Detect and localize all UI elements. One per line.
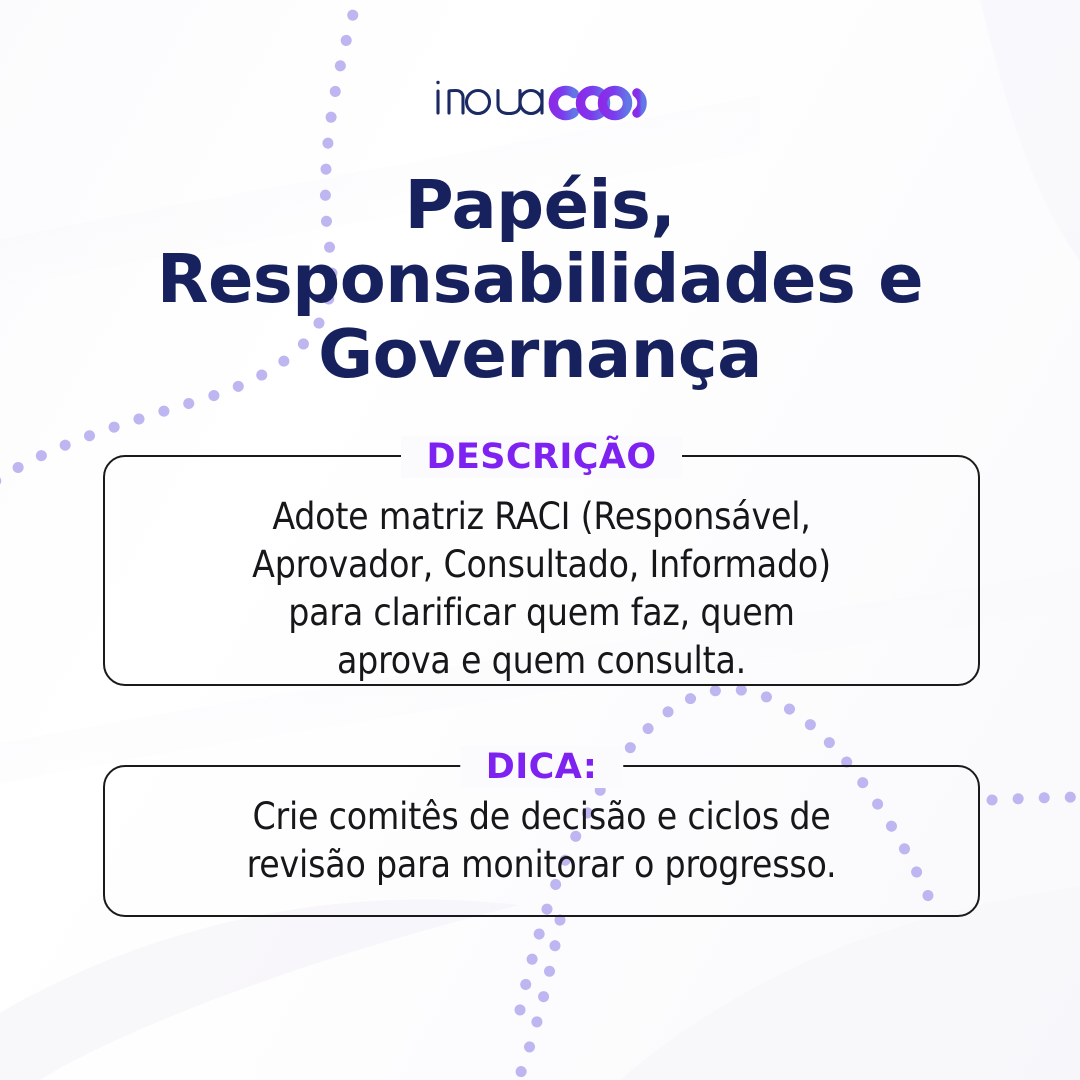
page-title-line-1: Papéis,	[60, 168, 1020, 242]
description-line-2: Aprovador, Consultado, Informado)	[133, 541, 950, 589]
description-line-4: aprova e quem consulta.	[133, 637, 950, 685]
description-card-body: Adote matriz RACI (Responsável, Aprovado…	[133, 493, 950, 685]
tip-line-2: revisão para monitorar o progresso.	[133, 841, 950, 889]
description-card: DESCRIÇÃO Adote matriz RACI (Responsável…	[103, 455, 980, 686]
tip-card-body: Crie comitês de decisão e ciclos de revi…	[133, 793, 950, 889]
description-line-1: Adote matriz RACI (Responsável,	[133, 493, 950, 541]
page-title: Papéis, Responsabilidades e Governança	[60, 168, 1020, 391]
page-title-line-3: Governança	[60, 317, 1020, 391]
page-title-line-2: Responsabilidades e	[60, 242, 1020, 316]
dotted-line-right	[992, 797, 1080, 800]
description-card-label: DESCRIÇÃO	[401, 436, 683, 478]
tip-card-label: DICA:	[460, 746, 624, 788]
tip-line-1: Crie comitês de decisão e ciclos de	[133, 793, 950, 841]
background-wave-bottom-left	[0, 899, 520, 1080]
tip-card: DICA: Crie comitês de decisão e ciclos d…	[103, 765, 980, 917]
dotted-curve-bottom-center	[516, 920, 560, 1080]
description-line-3: para clarificar quem faz, quem	[133, 589, 950, 637]
poster-canvas: Papéis, Responsabilidades e Governança D…	[0, 0, 1080, 1080]
inovacoop-logo-icon	[431, 69, 649, 125]
brand-logo	[0, 66, 1080, 128]
